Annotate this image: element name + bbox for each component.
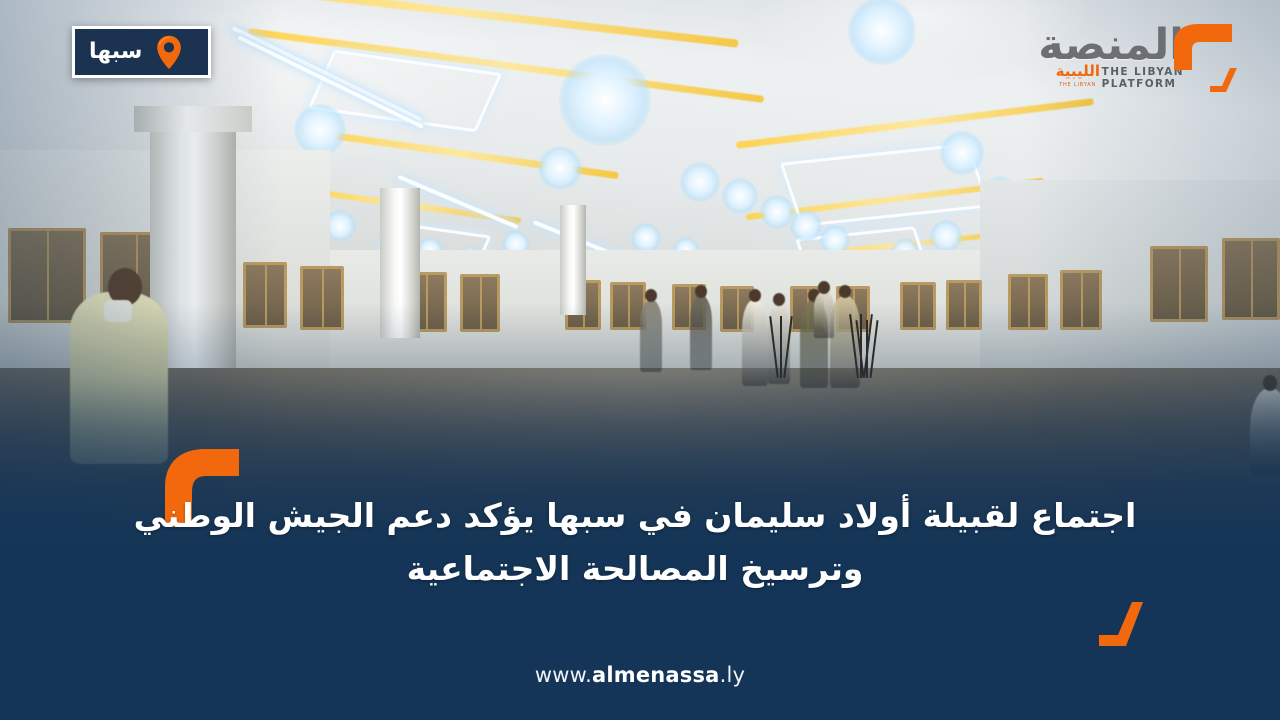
- almenassa-logo[interactable]: المنصة THE LIBYAN PLATFORM الليبية THE L…: [1036, 14, 1246, 100]
- orange-lam-mark-icon: [1097, 600, 1149, 652]
- website-tld: .ly: [720, 663, 746, 687]
- news-card: سبها المنصة THE LIBYAN PLATFORM الليبية …: [0, 0, 1280, 720]
- location-label: سبها: [89, 41, 142, 63]
- event-photograph: [0, 0, 1280, 720]
- map-pin-icon: [156, 35, 182, 69]
- news-headline: اجتماع لقبيلة أولاد سليمان في سبها يؤكد …: [120, 489, 1150, 596]
- logo-arabic-title: المنصة: [1038, 24, 1184, 67]
- logo-micro-latin: THE LIBYAN: [1059, 82, 1096, 88]
- logo-arabic-subtitle: الليبية: [1056, 64, 1100, 79]
- website-url[interactable]: www.almenassa.ly: [0, 665, 1280, 686]
- side-gradient-overlay: [0, 0, 1280, 720]
- website-prefix: www.: [535, 663, 592, 687]
- logo-lam-icon: [1208, 66, 1242, 98]
- location-badge[interactable]: سبها: [72, 26, 211, 78]
- website-brand: almenassa: [592, 663, 720, 687]
